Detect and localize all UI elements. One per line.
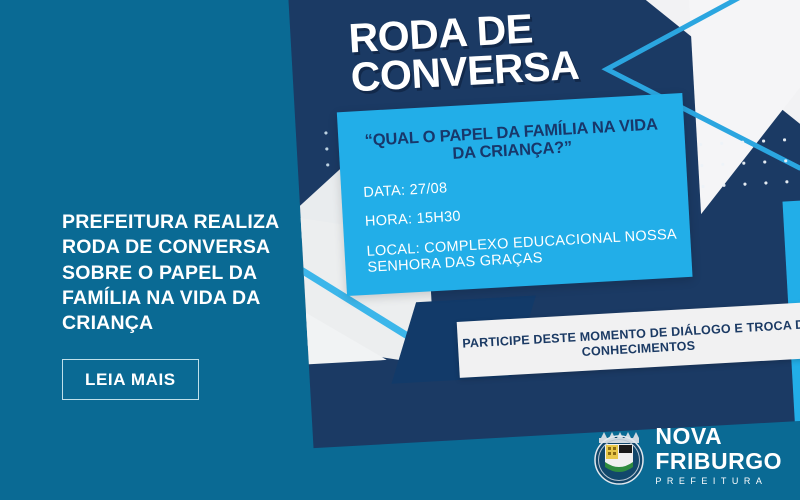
poster-place: LOCAL: COMPLEXO EDUCACIONAL NOSSA SENHOR…: [366, 226, 691, 277]
page-title: Prefeitura realiza roda de conversa sobr…: [62, 210, 300, 337]
event-poster: Roda de Conversa “Qual o papel da famíli…: [287, 0, 800, 448]
brand-line-3: Prefeitura: [655, 477, 782, 486]
brand-logo: Nova Friburgo Prefeitura: [593, 425, 782, 486]
read-more-button[interactable]: Leia mais: [62, 359, 199, 400]
poster-info-panel: “Qual o papel da família na vida da cria…: [337, 93, 693, 296]
banner-root: Roda de Conversa “Qual o papel da famíli…: [0, 0, 800, 500]
brand-line-2: Friburgo: [655, 450, 782, 473]
poster-question: “Qual o papel da família na vida da cria…: [354, 116, 669, 169]
brand-logo-text: Nova Friburgo Prefeitura: [655, 425, 782, 486]
coat-of-arms-icon: [593, 426, 645, 486]
promo-block: Prefeitura realiza roda de conversa sobr…: [62, 210, 300, 400]
brand-line-1: Nova: [655, 425, 782, 448]
poster-details: DATA: 27/08 HORA: 15H30 LOCAL: COMPLEXO …: [363, 167, 692, 277]
poster-canvas: Roda de Conversa “Qual o papel da famíli…: [287, 0, 800, 448]
poster-time: HORA: 15H30: [365, 196, 689, 231]
poster-date: DATA: 27/08: [363, 167, 687, 202]
